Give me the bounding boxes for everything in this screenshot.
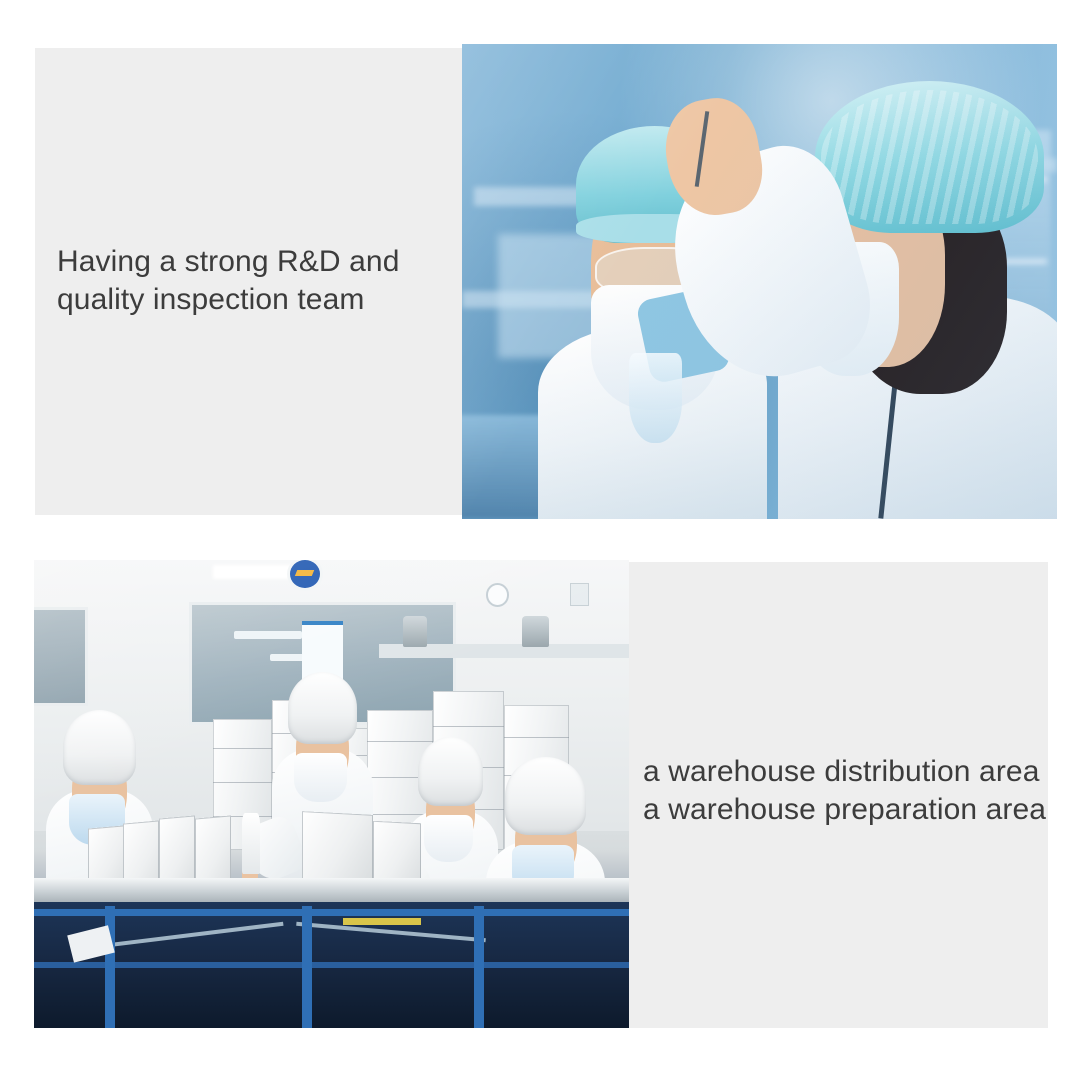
- rnd-quality-caption: Having a strong R&D and quality inspecti…: [57, 243, 457, 320]
- warehouse-steel-pot-2: [522, 616, 549, 646]
- warehouse-window-left: [34, 607, 88, 707]
- warehouse-areas-caption: a warehouse distribution area a warehous…: [643, 753, 1043, 830]
- collage-canvas: Having a strong R&D and quality inspecti…: [0, 0, 1080, 1080]
- lab-flask: [629, 353, 683, 443]
- worker-hairnet: [505, 757, 586, 835]
- worker-hairnet: [63, 710, 136, 785]
- worker-mask: [424, 815, 473, 862]
- warehouse-bottle: [242, 813, 260, 874]
- worker-mask: [294, 753, 347, 802]
- carton-seam: [213, 748, 273, 749]
- carton-seam: [213, 782, 273, 783]
- warehouse-table-rail: [34, 909, 629, 916]
- rnd-quality-caption-line-1: Having a strong R&D and: [57, 243, 457, 281]
- worker-hairnet: [418, 737, 483, 806]
- warehouse-window-lamp-1: [234, 631, 302, 639]
- carton-front: [302, 811, 373, 885]
- warehouse-table-rail: [34, 962, 629, 968]
- warehouse-areas-caption-line-2: a warehouse preparation area: [643, 791, 1043, 829]
- warehouse-table-leg: [302, 906, 313, 1028]
- warehouse-steel-pot-1: [403, 616, 427, 646]
- warehouse-shelf-box: [570, 583, 590, 606]
- lab-technician-profile: [760, 73, 1058, 520]
- warehouse-company-logo-icon: [290, 560, 320, 588]
- worker-hairnet: [288, 672, 357, 744]
- warehouse-floor-tape: [343, 918, 420, 925]
- lab-quality-inspection-photo: [462, 44, 1057, 519]
- lab-technician-profile-hairnet-ruffle: [821, 90, 1038, 224]
- warehouse-areas-caption-line-1: a warehouse distribution area: [643, 753, 1043, 791]
- warehouse-packing-photo: [34, 560, 629, 1028]
- carton-seam: [504, 737, 569, 738]
- rnd-quality-caption-line-2: quality inspection team: [57, 281, 457, 319]
- carton-seam: [433, 726, 504, 727]
- warehouse-table-leg: [474, 906, 484, 1028]
